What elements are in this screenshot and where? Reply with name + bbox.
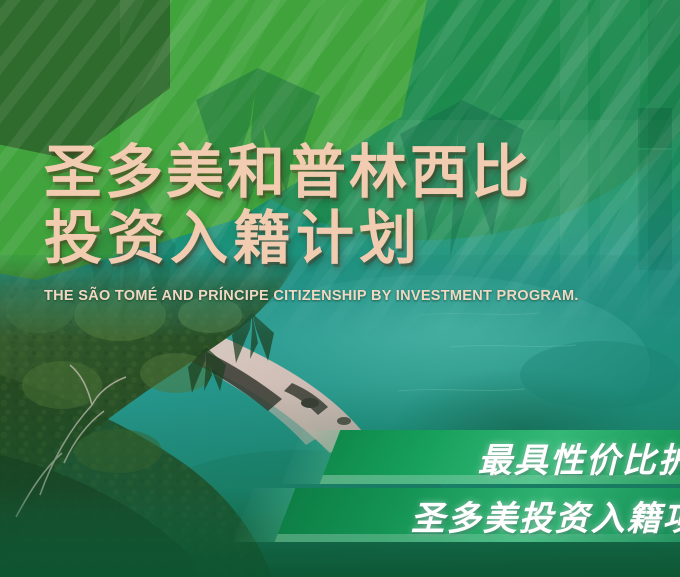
headline-line-2: 投资入籍计划 xyxy=(44,206,604,272)
banner-sao-tome-program: 圣多美投资入籍项目 xyxy=(275,488,680,542)
headline-line-1: 圣多美和普林西比 xyxy=(44,140,604,206)
headline-block: 圣多美和普林西比 投资入籍计划 xyxy=(44,140,604,272)
subtitle-english: THE SÃO TOMÉ AND PRÍNCIPE CITIZENSHIP BY… xyxy=(44,288,579,304)
banner-1-label: 最具性价比护照 xyxy=(478,433,680,482)
poster-banner: 圣多美和普林西比 投资入籍计划 THE SÃO TOMÉ AND PRÍNCIP… xyxy=(0,0,680,577)
banner-best-value-passport: 最具性价比护照 xyxy=(320,430,680,484)
banner-2-label: 圣多美投资入籍项目 xyxy=(411,491,680,540)
